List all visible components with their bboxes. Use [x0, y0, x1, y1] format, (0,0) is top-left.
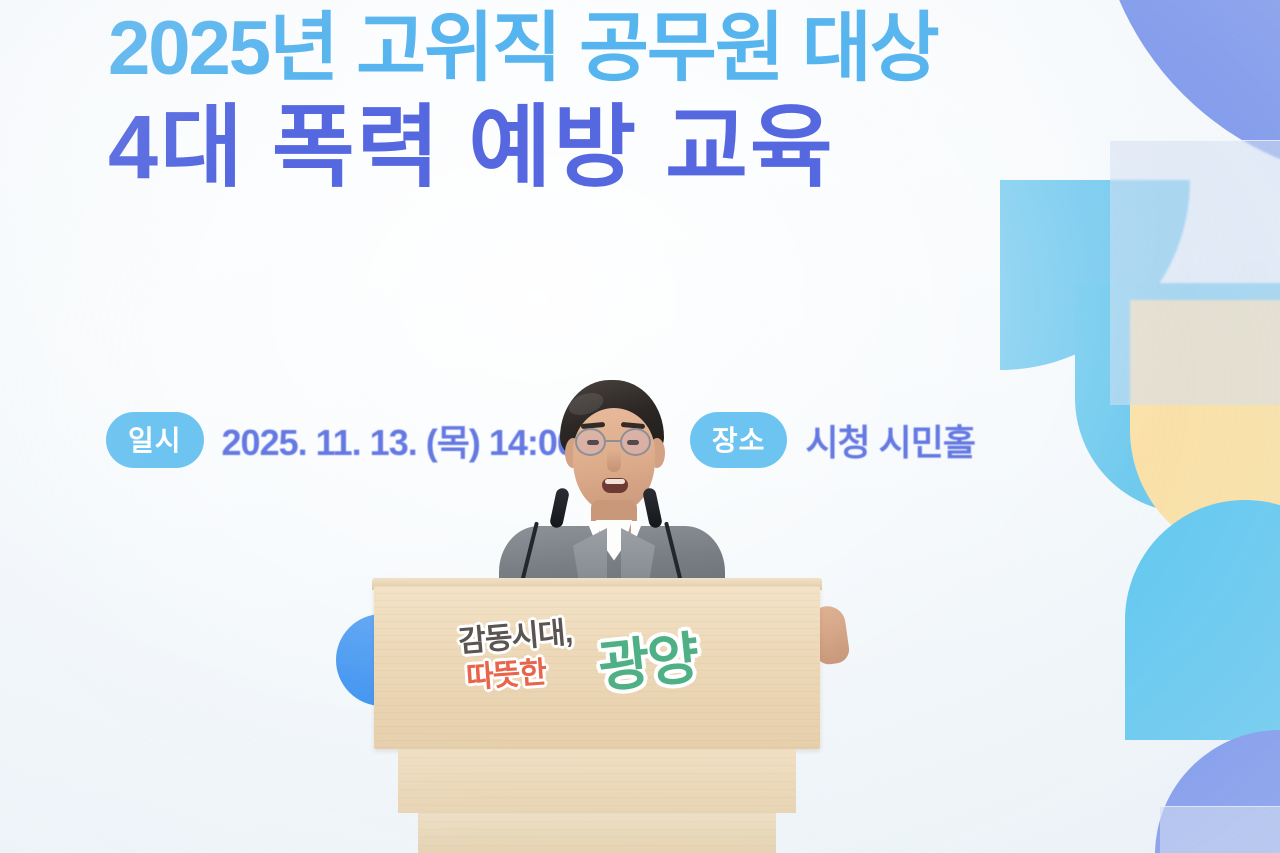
speaker-nose — [607, 450, 621, 472]
city-name: 광양 — [595, 626, 700, 699]
podium-base — [418, 813, 776, 853]
banner-headline-block: 2025년 고위직 공무원 대상 4대 폭력 예방 교육 — [108, 8, 1008, 199]
decor-glass-panel-overlay-lower — [1160, 806, 1280, 853]
speaker-mouth — [602, 478, 628, 493]
slogan-line-2-wrap: 따뜻한 — [465, 647, 548, 696]
event-photo-scene: 2025년 고위직 공무원 대상 4대 폭력 예방 교육 일시 2025. 11… — [0, 0, 1280, 853]
microphone-right-capsule — [642, 487, 663, 529]
eyeglass-lens-left — [575, 428, 606, 456]
place-value: 시청 시민홀 — [805, 414, 975, 466]
eyeglass-lens-right — [620, 428, 651, 456]
microphone-left-capsule — [549, 487, 570, 529]
banner-title-line-2: 4대 폭력 예방 교육 — [108, 98, 1008, 199]
city-name-wrap: 광양 — [594, 613, 701, 704]
city-slogan-logo: 감동시대, 따뜻한 광양 — [448, 612, 748, 716]
date-badge: 일시 — [106, 412, 204, 468]
eyeglass-bridge — [606, 440, 620, 442]
decor-glass-panel-overlay — [1110, 140, 1280, 405]
banner-title-line-1: 2025년 고위직 공무원 대상 — [108, 8, 1008, 90]
podium-mid-column — [398, 749, 796, 813]
slogan-line-2: 따뜻한 — [465, 656, 547, 694]
